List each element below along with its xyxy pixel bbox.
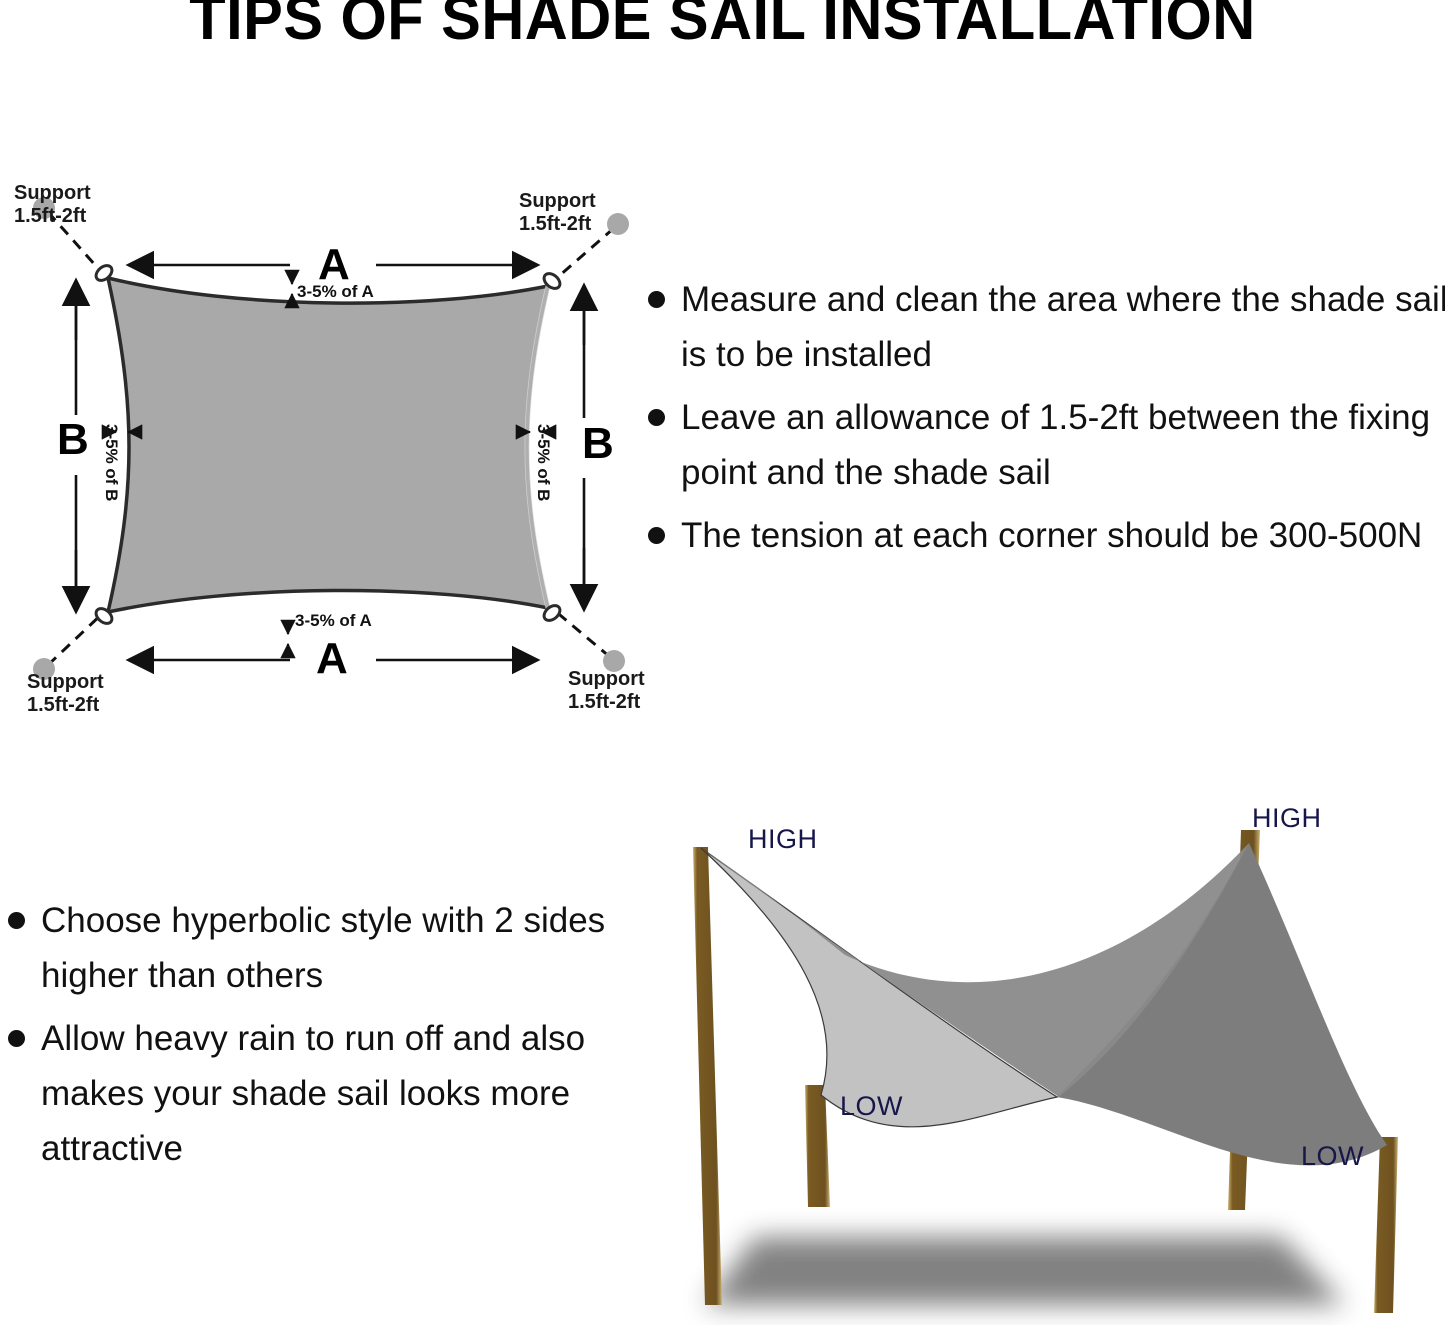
list-item: The tension at each corner should be 300… (648, 508, 1445, 563)
dimension-label-a-bottom: A (316, 637, 348, 681)
sail-panel-front (701, 848, 1057, 1127)
support-label-top-left: Support 1.5ft-2ft (14, 182, 91, 228)
sail-panel-back (1057, 843, 1387, 1165)
post-low-right (1374, 1137, 1398, 1313)
support-label-top-right: Support 1.5ft-2ft (519, 190, 596, 236)
tips-list-bottom: Choose hyperbolic style with 2 sides hig… (8, 893, 628, 1184)
label-low-right: LOW (1301, 1143, 1364, 1170)
post-low-left (805, 1085, 830, 1207)
label-low-left: LOW (840, 1093, 903, 1120)
bullet-dot-icon (648, 291, 665, 308)
list-item: Leave an allowance of 1.5-2ft between th… (648, 390, 1445, 500)
hyperbolic-sail-svg (645, 785, 1445, 1325)
list-item-label: Leave an allowance of 1.5-2ft between th… (681, 390, 1445, 500)
bullet-dot-icon (648, 527, 665, 544)
curvature-label-bottom: 3-5% of A (295, 612, 372, 630)
infographic-page: TIPS OF SHADE SAIL INSTALLATION (0, 0, 1445, 1319)
bullet-dot-icon (8, 1030, 25, 1047)
label-high-left: HIGH (748, 826, 818, 853)
bullet-dot-icon (648, 409, 665, 426)
support-label-bottom-left: Support 1.5ft-2ft (27, 671, 104, 717)
ground-shadow (705, 1237, 1345, 1305)
dimension-label-a-top: A (318, 243, 350, 287)
list-item-label: Allow heavy rain to run off and also mak… (41, 1011, 628, 1176)
curvature-label-right: 3-5% of B (534, 424, 552, 501)
page-title: TIPS OF SHADE SAIL INSTALLATION (29, 0, 1416, 50)
corner-rings (93, 263, 563, 627)
sail-shape (108, 278, 548, 612)
dimension-label-b-left: B (57, 418, 89, 462)
list-item: Allow heavy rain to run off and also mak… (8, 1011, 628, 1176)
label-high-right: HIGH (1252, 805, 1322, 832)
dimension-label-b-right: B (582, 422, 614, 466)
curvature-label-left: 3-5% of B (102, 424, 120, 501)
list-item-label: Measure and clean the area where the sha… (681, 272, 1445, 382)
sail-overlap-sliver (701, 843, 1249, 1097)
support-label-bottom-right: Support 1.5ft-2ft (568, 668, 645, 714)
list-item: Choose hyperbolic style with 2 sides hig… (8, 893, 628, 1003)
list-item-label: Choose hyperbolic style with 2 sides hig… (41, 893, 628, 1003)
curvature-label-top: 3-5% of A (297, 283, 374, 301)
post-high-right (1228, 830, 1260, 1210)
post-high-left (693, 847, 722, 1305)
tips-list-top: Measure and clean the area where the sha… (648, 272, 1445, 571)
list-item: Measure and clean the area where the sha… (648, 272, 1445, 382)
list-item-label: The tension at each corner should be 300… (681, 508, 1422, 563)
bullet-dot-icon (8, 912, 25, 929)
